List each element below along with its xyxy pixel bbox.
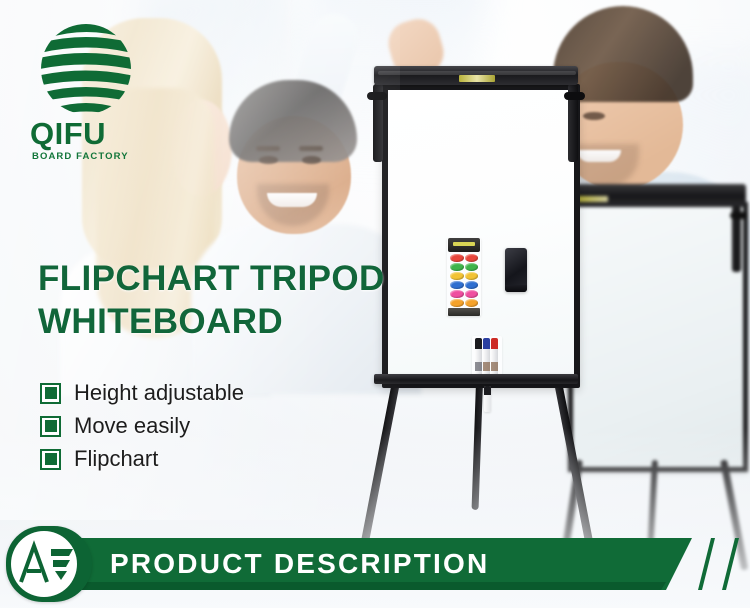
page-title: FLIPCHART TRIPOD WHITEBOARD xyxy=(38,258,438,343)
magnet-dot xyxy=(450,299,464,307)
front-board-clamp-label xyxy=(459,75,495,82)
front-board-tray xyxy=(374,374,578,384)
product-banner: QIFU BOARD FACTORY FLIPCHART TRIPOD WHIT… xyxy=(0,0,750,608)
whiteboard-eraser xyxy=(505,248,527,292)
magnet-dot xyxy=(465,281,479,289)
magnet-dot xyxy=(465,272,479,280)
single-marker-cap xyxy=(484,386,491,395)
brand-logo: QIFU BOARD FACTORY xyxy=(28,22,152,156)
banner-stripe-2 xyxy=(722,538,739,590)
feature-list: Height adjustable Move easily Flipchart xyxy=(40,382,400,481)
brand-name: QIFU xyxy=(30,118,150,149)
front-board-clamp xyxy=(374,66,578,85)
banner-stripe-1 xyxy=(698,538,715,590)
back-board-knob-right xyxy=(730,212,748,219)
marker-blue xyxy=(483,338,490,378)
magnet-pack-cap xyxy=(448,238,480,252)
magnet-pack-label xyxy=(453,242,475,246)
back-board-clamp xyxy=(562,184,746,206)
list-item: Move easily xyxy=(40,415,400,437)
feature-label: Move easily xyxy=(74,415,190,437)
magnet-dot xyxy=(465,290,479,298)
magnet-dot xyxy=(465,263,479,271)
headline-line-1: FLIPCHART TRIPOD xyxy=(38,258,438,301)
a-chevron-badge-icon xyxy=(6,526,92,602)
magnet-dot xyxy=(465,254,479,262)
magnet-dot xyxy=(450,281,464,289)
marker-black xyxy=(475,338,482,378)
green-square-bullet-icon xyxy=(40,383,61,404)
magnet-dot xyxy=(450,272,464,280)
green-square-bullet-icon xyxy=(40,416,61,437)
magnet-dot xyxy=(465,299,479,307)
banner-title: PRODUCT DESCRIPTION xyxy=(110,550,489,578)
banner-bar-shadow xyxy=(52,582,666,590)
green-square-bullet-icon xyxy=(40,449,61,470)
marker-red xyxy=(491,338,498,378)
feature-label: Flipchart xyxy=(74,448,158,470)
magnet-dot xyxy=(450,290,464,298)
magnet-pack-foot xyxy=(448,308,480,316)
magnet-dot xyxy=(450,263,464,271)
product-description-banner: PRODUCT DESCRIPTION xyxy=(0,520,750,608)
headline-line-2: WHITEBOARD xyxy=(38,301,438,344)
eraser-felt-edge xyxy=(505,285,527,292)
magnet-grid xyxy=(449,253,479,308)
list-item: Height adjustable xyxy=(40,382,400,404)
list-item: Flipchart xyxy=(40,448,400,470)
globe-stripes-icon xyxy=(34,22,138,118)
magnet-dot xyxy=(450,254,464,262)
magnet-pack xyxy=(447,238,481,316)
single-marker xyxy=(484,386,491,412)
feature-label: Height adjustable xyxy=(74,382,244,404)
brand-tagline: BOARD FACTORY xyxy=(32,152,162,162)
front-board-knob-right xyxy=(564,92,585,100)
